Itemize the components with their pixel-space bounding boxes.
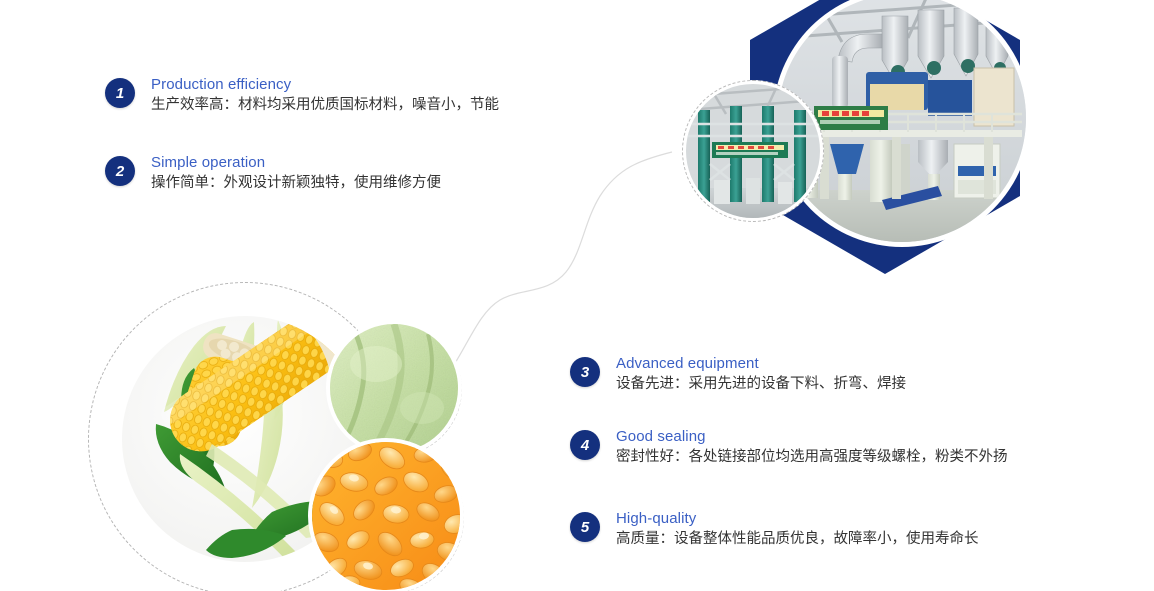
feature-desc-cn-5: 高质量：设备整体性能品质优良，故障率小，使用寿命长: [616, 529, 979, 550]
factory-small-photo: [682, 80, 824, 222]
feature-text-5: High-quality 高质量：设备整体性能品质优良，故障率小，使用寿命长: [616, 509, 979, 550]
feature-item-1[interactable]: 1 Production efficiency 生产效率高：材料均采用优质国标材…: [105, 78, 499, 116]
feature-title-en-4: Good sealing: [616, 427, 1008, 446]
corn-grits-photo: [310, 440, 464, 591]
factory-media-cluster: [660, 0, 1090, 282]
feature-text-1: Production efficiency 生产效率高：材料均采用优质国标材料，…: [151, 75, 499, 116]
feature-item-2[interactable]: 2 Simple operation 操作简单：外观设计新颖独特，使用维修方便: [105, 156, 441, 194]
feature-desc-cn-4: 密封性好：各处链接部位均选用高强度等级螺栓，粉类不外扬: [616, 447, 1008, 468]
feature-desc-cn-3: 设备先进：采用先进的设备下料、折弯、焊接: [616, 374, 906, 395]
feature-badge-4: 4: [570, 430, 600, 460]
feature-text-2: Simple operation 操作简单：外观设计新颖独特，使用维修方便: [151, 153, 441, 194]
feature-title-en-2: Simple operation: [151, 153, 441, 172]
feature-text-3: Advanced equipment 设备先进：采用先进的设备下料、折弯、焊接: [616, 354, 906, 395]
feature-title-en-3: Advanced equipment: [616, 354, 906, 373]
feature-badge-5: 5: [570, 512, 600, 542]
feature-title-en-5: High-quality: [616, 509, 979, 528]
feature-badge-3: 3: [570, 357, 600, 387]
produce-media-cluster: [88, 282, 458, 591]
corn-meal-photo: [328, 322, 462, 456]
feature-badge-1: 1: [105, 78, 135, 108]
feature-title-en-1: Production efficiency: [151, 75, 499, 94]
infographic-stage: 1 Production efficiency 生产效率高：材料均采用优质国标材…: [0, 0, 1154, 591]
feature-item-3[interactable]: 3 Advanced equipment 设备先进：采用先进的设备下料、折弯、焊…: [570, 357, 906, 395]
feature-text-4: Good sealing 密封性好：各处链接部位均选用高强度等级螺栓，粉类不外扬: [616, 427, 1008, 468]
feature-item-4[interactable]: 4 Good sealing 密封性好：各处链接部位均选用高强度等级螺栓，粉类不…: [570, 430, 1008, 468]
feature-item-5[interactable]: 5 High-quality 高质量：设备整体性能品质优良，故障率小，使用寿命长: [570, 512, 979, 550]
feature-desc-cn-1: 生产效率高：材料均采用优质国标材料，噪音小，节能: [151, 95, 499, 116]
feature-badge-2: 2: [105, 156, 135, 186]
feature-desc-cn-2: 操作简单：外观设计新颖独特，使用维修方便: [151, 173, 441, 194]
